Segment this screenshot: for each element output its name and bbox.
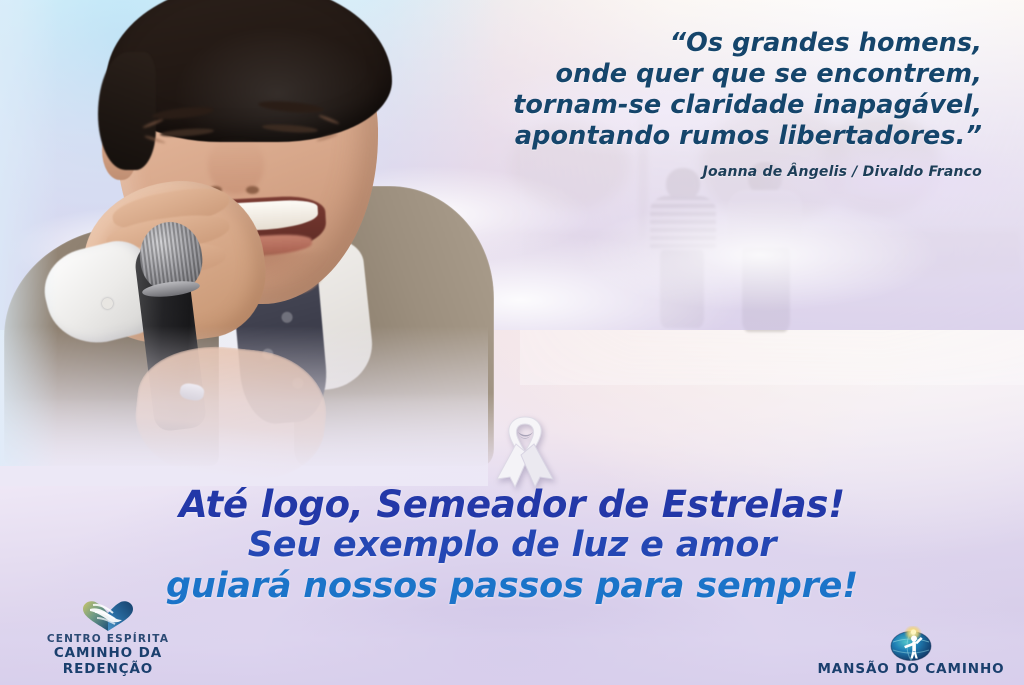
quote-author: Joanna de Ângelis / Divaldo Franco [422,164,982,180]
logo-centro-espirita: CENTRO ESPÍRITA CAMINHO DA REDENÇÃO [8,599,208,677]
portrait-bottom-fade [0,326,488,486]
quote-line-2: onde quer que se encontrem, [422,59,982,90]
heart-hands-icon [8,599,208,633]
white-mourning-ribbon-icon [489,411,561,489]
portrait-left-fade [0,0,58,466]
logo-right-line-1: MANSÃO DO CAMINHO [806,661,1016,677]
memorial-poster: “Os grandes homens, onde quer que se enc… [0,0,1024,685]
logo-mansao-do-caminho: MANSÃO DO CAMINHO [806,627,1016,677]
quote-line-4: apontando rumos libertadores.” [422,121,982,152]
headline-line-2: Seu exemplo de luz e amor [0,525,1024,566]
logo-left-line-1: CENTRO ESPÍRITA [8,633,208,645]
hair-sideburn [98,52,156,170]
quote-block: “Os grandes homens, onde quer que se enc… [422,28,982,180]
portrait-photo [0,0,464,456]
quote-line-1: “Os grandes homens, [422,28,982,59]
globe-figure-light-icon [806,627,1016,661]
headline-line-1: Até logo, Semeador de Estrelas! [0,484,1024,525]
headline-block: Até logo, Semeador de Estrelas! Seu exem… [0,484,1024,607]
cuff-button [102,298,113,309]
quote-line-3: tornam-se claridade inapagável, [422,90,982,121]
logo-left-line-2: CAMINHO DA REDENÇÃO [8,645,208,677]
nostril [246,186,259,194]
